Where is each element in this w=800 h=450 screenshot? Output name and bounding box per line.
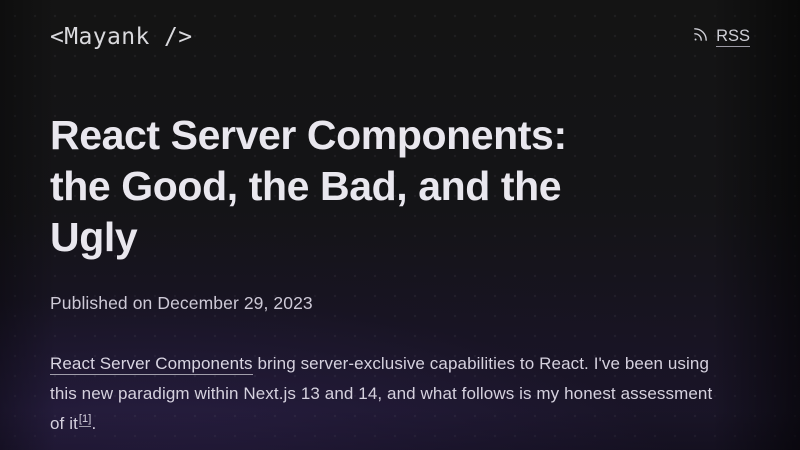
react-server-components-link[interactable]: React Server Components bbox=[50, 354, 253, 375]
published-date: December 29, 2023 bbox=[157, 293, 312, 313]
page-content: <Mayank /> RSS React Server Components: … bbox=[0, 0, 800, 450]
rss-label: RSS bbox=[716, 27, 750, 48]
rss-icon bbox=[692, 26, 709, 48]
post-intro-paragraph: React Server Components bring server-exc… bbox=[50, 349, 728, 439]
post-intro-text-end: . bbox=[91, 414, 96, 433]
page-title: React Server Components: the Good, the B… bbox=[50, 110, 630, 263]
post-published-meta: Published on December 29, 2023 bbox=[50, 293, 750, 314]
site-header: <Mayank /> RSS bbox=[50, 0, 750, 74]
rss-feed-link[interactable]: RSS bbox=[692, 26, 750, 48]
site-logo-link[interactable]: <Mayank /> bbox=[50, 24, 192, 50]
published-on-label: Published on bbox=[50, 293, 157, 313]
footnote-reference-1[interactable]: [1] bbox=[79, 413, 92, 427]
